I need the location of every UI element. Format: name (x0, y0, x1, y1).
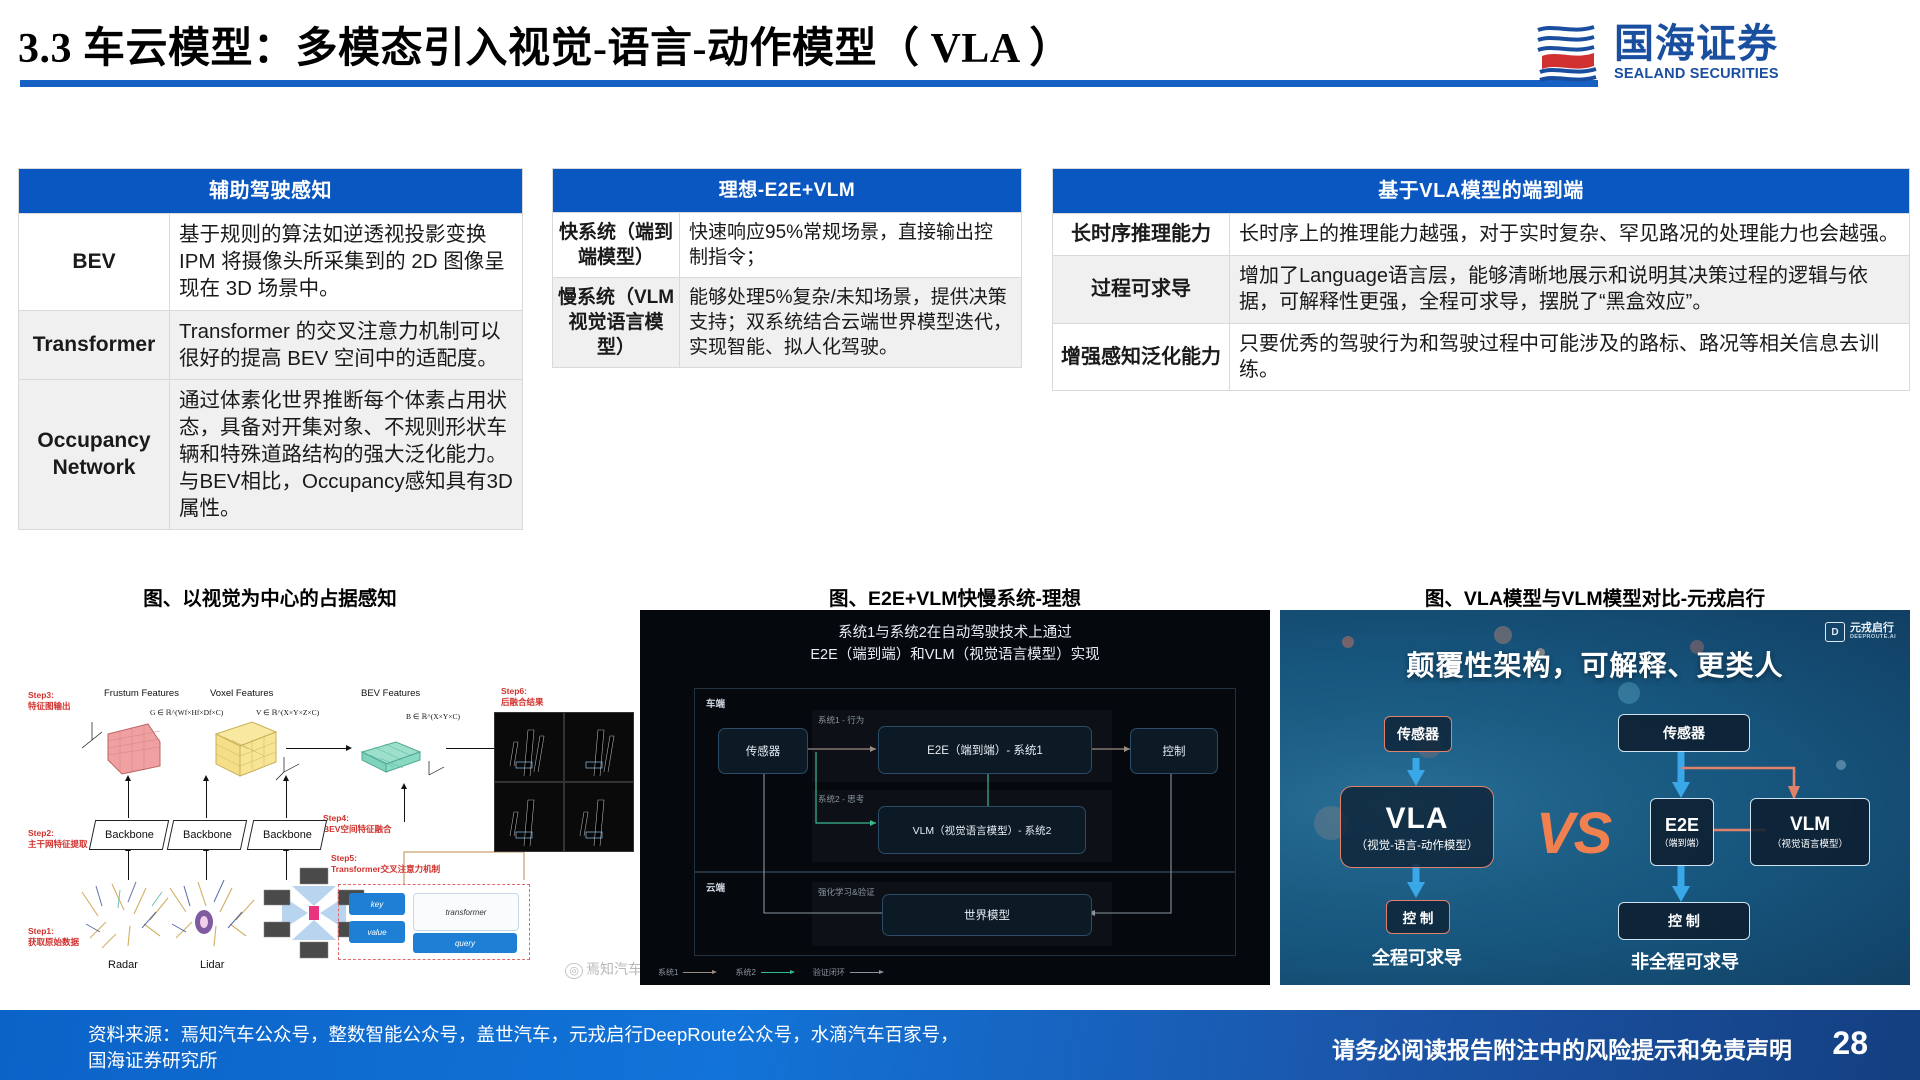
fig3-right-vlm: VLM （视觉语言模型） (1750, 798, 1870, 866)
fig1-step1-label: Step1: (28, 926, 54, 936)
table1-row2-key: Occupancy Network (19, 379, 170, 529)
fig2-legend: 系统1 系统2 验证闭环 (658, 967, 880, 978)
table2-row1-value: 能够处理5%复杂/未知场景，提供决策支持；双系统结合云端世界模型迭代，实现智能、… (680, 278, 1022, 368)
fig1-watermark-icon: ◎ (565, 963, 583, 979)
fig1-arrow-voxel-to-bev (286, 748, 346, 749)
fig1-step6-desc: 后融合结果 (501, 697, 544, 707)
fig1-backbone-camera-label: Backbone (263, 829, 312, 841)
fig2-legend-label-2: 验证闭环 (813, 967, 845, 978)
source-note-line1: 资料来源：焉知汽车公众号，整数智能公众号，盖世汽车，元戎启行DeepRoute公… (88, 1022, 1118, 1048)
fig3-right-vlm-name: VLM (1790, 814, 1830, 836)
fig3-right-control: 控 制 (1618, 902, 1750, 940)
table-row: Occupancy Network 通过体素化世界推断每个体素占用状态，具备对开… (19, 379, 523, 529)
table3-row0-key: 长时序推理能力 (1053, 214, 1230, 255)
fig1-result-overlay (494, 712, 634, 852)
table1-row0-value: 基于规则的算法如逆透视投影变换 IPM 将摄像头所采集到的 2D 图像呈现在 3… (170, 214, 523, 310)
table-row: 过程可求导 增加了Language语言层，能够清晰地展示和说明其决策过程的逻辑与… (1053, 255, 1910, 323)
fig1-step2-label: Step2: (28, 828, 54, 838)
fig2-legend-label-1: 系统2 (735, 967, 755, 978)
fig1-backbone-radar-label: Backbone (105, 829, 154, 841)
fig2-node-e2e: E2E（端到端）- 系统1 (878, 726, 1092, 774)
fig1-watermark: ◎焉知汽车 (565, 959, 642, 979)
table-row: BEV 基于规则的算法如逆透视投影变换 IPM 将摄像头所采集到的 2D 图像呈… (19, 214, 523, 310)
fig2-node-sensor: 传感器 (718, 728, 808, 774)
fig2-legend-item-2: 验证闭环 (813, 967, 880, 978)
fig3-left-vla-sub: （视觉-语言-动作模型） (1356, 837, 1479, 853)
table-header-row: 理想-E2E+VLM (553, 169, 1022, 213)
table-vla: 基于VLA模型的端到端 长时序推理能力 长时序上的推理能力越强，对于实时复杂、罕… (1052, 168, 1910, 391)
fig1-sensor-label-lidar: Lidar (200, 959, 224, 971)
page-title: 3.3 车云模型：多模态引入视觉-语言-动作模型（ VLA ） (18, 14, 1358, 75)
company-logo: 国海证券 SEALAND SECURITIES (1532, 18, 1892, 88)
fig1-step2-desc: 主干网特征提取 (28, 839, 88, 849)
fig1-arrow-up-3 (286, 780, 287, 818)
sealand-flag-icon (1532, 22, 1604, 84)
table3-row1-key: 过程可求导 (1053, 255, 1230, 323)
fig1-step4-label: Step4: (323, 813, 349, 823)
source-note: 资料来源：焉知汽车公众号，整数智能公众号，盖世汽车，元戎启行DeepRoute公… (88, 1022, 1118, 1075)
fig3-right-e2e-name: E2E (1665, 815, 1699, 836)
table3-row0-value: 长时序上的推理能力越强，对于实时复杂、罕见路况的处理能力也会越强。 (1230, 214, 1910, 255)
table3-row1-value: 增加了Language语言层，能够清晰地展示和说明其决策过程的逻辑与依据，可解释… (1230, 255, 1910, 323)
fig1-axis-bev-icon (420, 758, 448, 786)
table1-row0-key: BEV (19, 214, 170, 310)
fig1-backbone-camera: Backbone (247, 820, 327, 850)
figure-vla-vs-vlm: D 元戎启行 DEEPROUTE.AI 颠覆性架构，可解释、更类人 传感器 VL… (1280, 610, 1910, 985)
table3-header: 基于VLA模型的端到端 (1053, 169, 1910, 214)
fig3-vs-label: VS (1536, 800, 1611, 867)
fig1-transformer-value: value (349, 921, 405, 943)
fig1-transformer-core: transformer (413, 893, 519, 931)
fig1-transformer-key: key (349, 893, 405, 915)
fig1-stage-label-bev: BEV Features (361, 688, 420, 699)
logo-text-cn: 国海证券 (1614, 24, 1779, 64)
table-row: 慢系统（VLM视觉语言模型） 能够处理5%复杂/未知场景，提供决策支持；双系统结… (553, 278, 1022, 368)
table1-row1-value: Transformer 的交叉注意力机制可以很好的提高 BEV 空间中的适配度。 (170, 310, 523, 379)
fig3-right-caption: 非全程可求导 (1580, 948, 1790, 974)
fig2-legend-arrow-1 (761, 972, 791, 973)
fig1-step5-label: Step5: (331, 853, 357, 863)
table1-header: 辅助驾驶感知 (19, 169, 523, 214)
fig1-bev-slab (356, 738, 426, 784)
table-e2e-vlm: 理想-E2E+VLM 快系统（端到端模型） 快速响应95%常规场景，直接输出控制… (552, 168, 1022, 368)
figure1-caption: 图、以视觉为中心的占据感知 (40, 582, 500, 611)
fig1-arrow-bev-to-result (446, 748, 494, 749)
logo-mark-icon (1532, 22, 1604, 84)
fig1-axis-frustum-icon (78, 718, 104, 752)
table-row: 快系统（端到端模型） 快速响应95%常规场景，直接输出控制指令； (553, 213, 1022, 278)
fig1-formula-bev: B ∈ ℝ^(X×Y×C) (406, 712, 460, 721)
fig1-step3-label: Step3: (28, 690, 54, 700)
fig1-transformer-query: query (413, 933, 517, 953)
fig1-backbone-radar: Backbone (89, 820, 169, 850)
fig1-arrow-transformer-to-bev (404, 788, 405, 822)
table2-header: 理想-E2E+VLM (553, 169, 1022, 213)
page-number: 28 (1832, 1025, 1868, 1062)
fig1-step2: Step2: 主干网特征提取 (28, 828, 88, 851)
fig1-watermark-text: 焉知汽车 (586, 961, 642, 977)
figure-bev-occupancy-pipeline: Frustum Features Voxel Features BEV Feat… (16, 660, 646, 985)
fig3-right-vlm-sub: （视觉语言模型） (1772, 836, 1848, 850)
title-divider (20, 80, 1598, 87)
fig1-step6-label: Step6: (501, 686, 527, 696)
fig1-backbone-lidar: Backbone (167, 820, 247, 850)
fig3-right-e2e-sub: （端到端） (1659, 836, 1704, 849)
fig1-step4: Step4: BEV空间特征融合 (323, 813, 391, 836)
table3-row2-key: 增强感知泛化能力 (1053, 323, 1230, 391)
fig1-stage-label-voxel: Voxel Features (210, 688, 273, 699)
fig1-frustum-shape (102, 720, 172, 780)
table1-row1-key: Transformer (19, 310, 170, 379)
fig2-node-control: 控制 (1130, 728, 1218, 774)
figure2-caption: 图、E2E+VLM快慢系统-理想 (640, 582, 1270, 611)
source-note-line2: 国海证券研究所 (88, 1048, 1118, 1074)
table2-row1-key: 慢系统（VLM视觉语言模型） (553, 278, 680, 368)
table2-row0-value: 快速响应95%常规场景，直接输出控制指令； (680, 213, 1022, 278)
table-header-row: 辅助驾驶感知 (19, 169, 523, 214)
fig1-step6: Step6: 后融合结果 (501, 686, 544, 709)
fig1-formula-frustum: G ∈ ℝ^(Wf×Hf×Df×C) (150, 708, 223, 717)
fig1-arrow-up-2 (206, 780, 207, 818)
logo-text-en: SEALAND SECURITIES (1614, 66, 1779, 82)
fig3-right-e2e: E2E （端到端） (1650, 798, 1714, 866)
disclaimer-text: 请务必阅读报告附注中的风险提示和免责声明 (1332, 1031, 1792, 1065)
fig1-backbone-lidar-label: Backbone (183, 829, 232, 841)
table3-row2-value: 只要优秀的驾驶行为和驾驶过程中可能涉及的路标、路况等相关信息去训练。 (1230, 323, 1910, 391)
fig3-left-vla-name: VLA (1386, 802, 1449, 836)
fig2-node-vlm: VLM（视觉语言模型）- 系统2 (878, 806, 1086, 854)
fig1-stage-label-frustum: Frustum Features (104, 688, 179, 699)
fig1-step3-desc: 特征图输出 (28, 701, 71, 711)
fig2-legend-item-1: 系统2 (735, 967, 790, 978)
fig3-right-sensor: 传感器 (1618, 714, 1750, 752)
footer-bar: 资料来源：焉知汽车公众号，整数智能公众号，盖世汽车，元戎启行DeepRoute公… (0, 1010, 1920, 1080)
fig1-sensor-label-radar: Radar (108, 959, 138, 971)
fig3-left-sensor: 传感器 (1384, 716, 1452, 752)
fig1-step4-desc: BEV空间特征融合 (323, 824, 391, 834)
fig3-left-caption: 全程可求导 (1314, 944, 1520, 970)
table1-row2-value: 通过体素化世界推断每个体素占用状态，具备对开集对象、不规则形状车辆和特殊道路结构… (170, 379, 523, 529)
fig2-node-world-model: 世界模型 (882, 894, 1092, 936)
table-row: Transformer Transformer 的交叉注意力机制可以很好的提高 … (19, 310, 523, 379)
table-row: 增强感知泛化能力 只要优秀的驾驶行为和驾驶过程中可能涉及的路标、路况等相关信息去… (1053, 323, 1910, 391)
table-row: 长时序推理能力 长时序上的推理能力越强，对于实时复杂、罕见路况的处理能力也会越强… (1053, 214, 1910, 255)
table-perception: 辅助驾驶感知 BEV 基于规则的算法如逆透视投影变换 IPM 将摄像头所采集到的… (18, 168, 523, 530)
fig3-left-vla: VLA （视觉-语言-动作模型） (1340, 786, 1494, 868)
fig3-left-control: 控 制 (1386, 900, 1450, 934)
fig1-arrow-up-1 (128, 780, 129, 818)
fig1-voxel-cube (212, 718, 280, 782)
fig2-legend-arrow-2 (850, 972, 880, 973)
table2-row0-key: 快系统（端到端模型） (553, 213, 680, 278)
fig1-step3: Step3: 特征图输出 (28, 690, 71, 713)
fig1-formula-voxel: V ∈ ℝ^(X×Y×Z×C) (256, 708, 319, 717)
fig2-legend-item-0: 系统1 (658, 967, 713, 978)
figure3-caption: 图、VLA模型与VLM模型对比-元戎启行 (1280, 582, 1910, 611)
fig1-lidar-pointcloud (156, 874, 266, 956)
fig2-legend-arrow-0 (683, 972, 713, 973)
fig2-legend-label-0: 系统1 (658, 967, 678, 978)
figure-e2e-vlm-system: 系统1与系统2在自动驾驶技术上通过 E2E（端到端）和VLM（视觉语言模型）实现… (640, 610, 1270, 985)
fig1-transformer-block: key value transformer query (338, 884, 530, 960)
table-header-row: 基于VLA模型的端到端 (1053, 169, 1910, 214)
